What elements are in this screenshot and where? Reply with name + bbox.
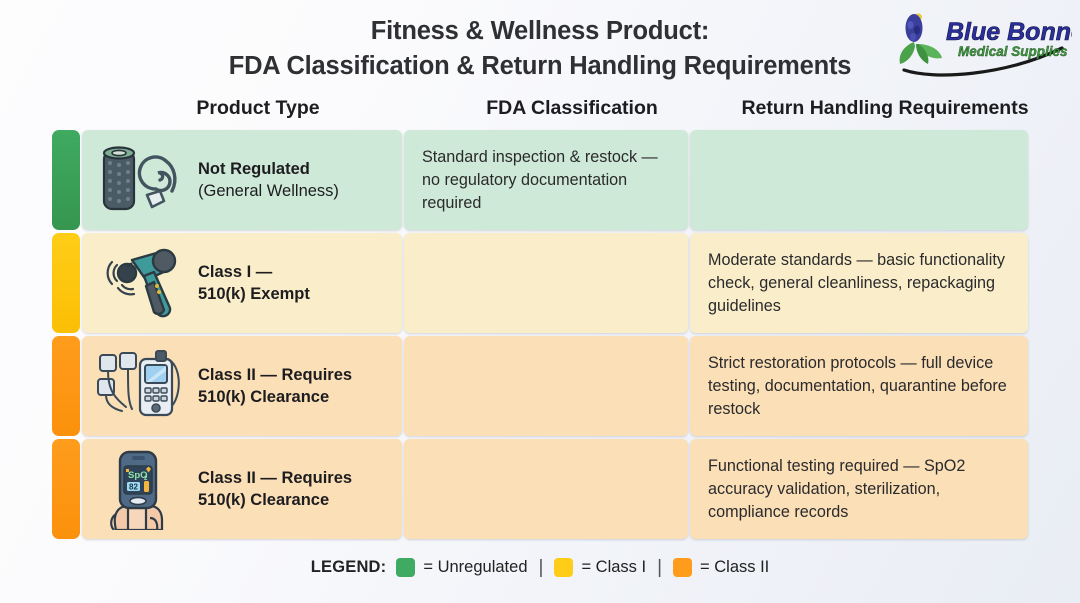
bluebonnet-flower-icon bbox=[900, 14, 942, 65]
pulse-oximeter-icon: SpO 2 82 bbox=[94, 448, 188, 530]
product-type-sub: 510(k) Exempt bbox=[198, 283, 310, 305]
legend-label-class-i: = Class I bbox=[581, 558, 646, 577]
legend-swatch-class-i bbox=[554, 558, 573, 577]
tens-unit-icon bbox=[94, 345, 188, 427]
legend-item-class-i: = Class I bbox=[554, 558, 646, 577]
product-type-name: Class II — Requires bbox=[198, 364, 352, 386]
cell-product-type: SpO 2 82 Class II — Requires 510(k) Clea… bbox=[82, 439, 402, 539]
legend-item-class-ii: = Class II bbox=[673, 558, 769, 577]
legend-label-class-ii: = Class II bbox=[700, 558, 769, 577]
column-header-return-handling: Return Handling Requirements bbox=[690, 97, 1080, 120]
table-row: SpO 2 82 Class II — Requires 510(k) Clea… bbox=[52, 439, 1028, 539]
legend-swatch-class-ii bbox=[673, 558, 692, 577]
row-color-bar-class-i bbox=[52, 233, 80, 333]
company-logo: Blue Bonnet Medical Supplies bbox=[894, 8, 1072, 78]
oximeter-value: 82 bbox=[129, 483, 138, 492]
row-color-bar-class-ii bbox=[52, 336, 80, 436]
foam-roller-and-resistance-band-icon bbox=[94, 139, 188, 221]
legend-label-unregulated: = Unregulated bbox=[423, 558, 527, 577]
product-type-sub: 510(k) Clearance bbox=[198, 489, 352, 511]
product-type-sub: 510(k) Clearance bbox=[198, 386, 352, 408]
column-headers: Product Type FDA Classification Return H… bbox=[52, 97, 1028, 127]
return-handling-text: Moderate standards — basic functionality… bbox=[708, 249, 1010, 318]
massage-gun-icon bbox=[94, 242, 188, 324]
product-type-label: Not Regulated (General Wellness) bbox=[198, 158, 339, 203]
cell-product-type: Class I — 510(k) Exempt bbox=[82, 233, 402, 333]
logo-brand-primary: Blue Bonnet bbox=[946, 18, 1072, 46]
table-row: Class I — 510(k) Exempt Moderate standar… bbox=[52, 233, 1028, 333]
legend-separator: | bbox=[657, 558, 662, 577]
product-type-name: Not Regulated bbox=[198, 158, 339, 180]
cell-product-type: Not Regulated (General Wellness) bbox=[82, 130, 402, 230]
column-header-product-type: Product Type bbox=[82, 97, 434, 120]
product-type-name: Class I — bbox=[198, 261, 310, 283]
legend-item-unregulated: = Unregulated bbox=[396, 558, 527, 577]
table-row: Class II — Requires 510(k) Clearance Str… bbox=[52, 336, 1028, 436]
product-type-name: Class II — Requires bbox=[198, 467, 352, 489]
row-color-bar-class-ii bbox=[52, 439, 80, 539]
logo-brand-secondary: Medical Supplies bbox=[958, 44, 1068, 59]
legend-swatch-unregulated bbox=[396, 558, 415, 577]
row-color-bar-unregulated bbox=[52, 130, 80, 230]
cell-return-handling bbox=[690, 130, 1028, 230]
return-handling-text: Functional testing required — SpO2 accur… bbox=[708, 455, 1010, 524]
fda-classification-text: Standard inspection & restock — no regul… bbox=[422, 146, 670, 215]
cell-fda-classification bbox=[404, 336, 688, 436]
return-handling-text: Strict restoration protocols — full devi… bbox=[708, 352, 1010, 421]
product-type-label: Class II — Requires 510(k) Clearance bbox=[198, 467, 352, 512]
legend-separator: | bbox=[539, 558, 544, 577]
cell-fda-classification bbox=[404, 233, 688, 333]
legend-title: LEGEND: bbox=[311, 558, 387, 577]
cell-fda-classification bbox=[404, 439, 688, 539]
cell-fda-classification: Standard inspection & restock — no regul… bbox=[404, 130, 688, 230]
table-row: Not Regulated (General Wellness) Standar… bbox=[52, 130, 1028, 230]
cell-product-type: Class II — Requires 510(k) Clearance bbox=[82, 336, 402, 436]
classification-table: Not Regulated (General Wellness) Standar… bbox=[52, 130, 1028, 539]
legend: LEGEND: = Unregulated | = Class I | = Cl… bbox=[0, 558, 1080, 577]
product-type-sub: (General Wellness) bbox=[198, 180, 339, 202]
product-type-label: Class I — 510(k) Exempt bbox=[198, 261, 310, 306]
cell-return-handling: Moderate standards — basic functionality… bbox=[690, 233, 1028, 333]
product-type-label: Class II — Requires 510(k) Clearance bbox=[198, 364, 352, 409]
cell-return-handling: Strict restoration protocols — full devi… bbox=[690, 336, 1028, 436]
cell-return-handling: Functional testing required — SpO2 accur… bbox=[690, 439, 1028, 539]
